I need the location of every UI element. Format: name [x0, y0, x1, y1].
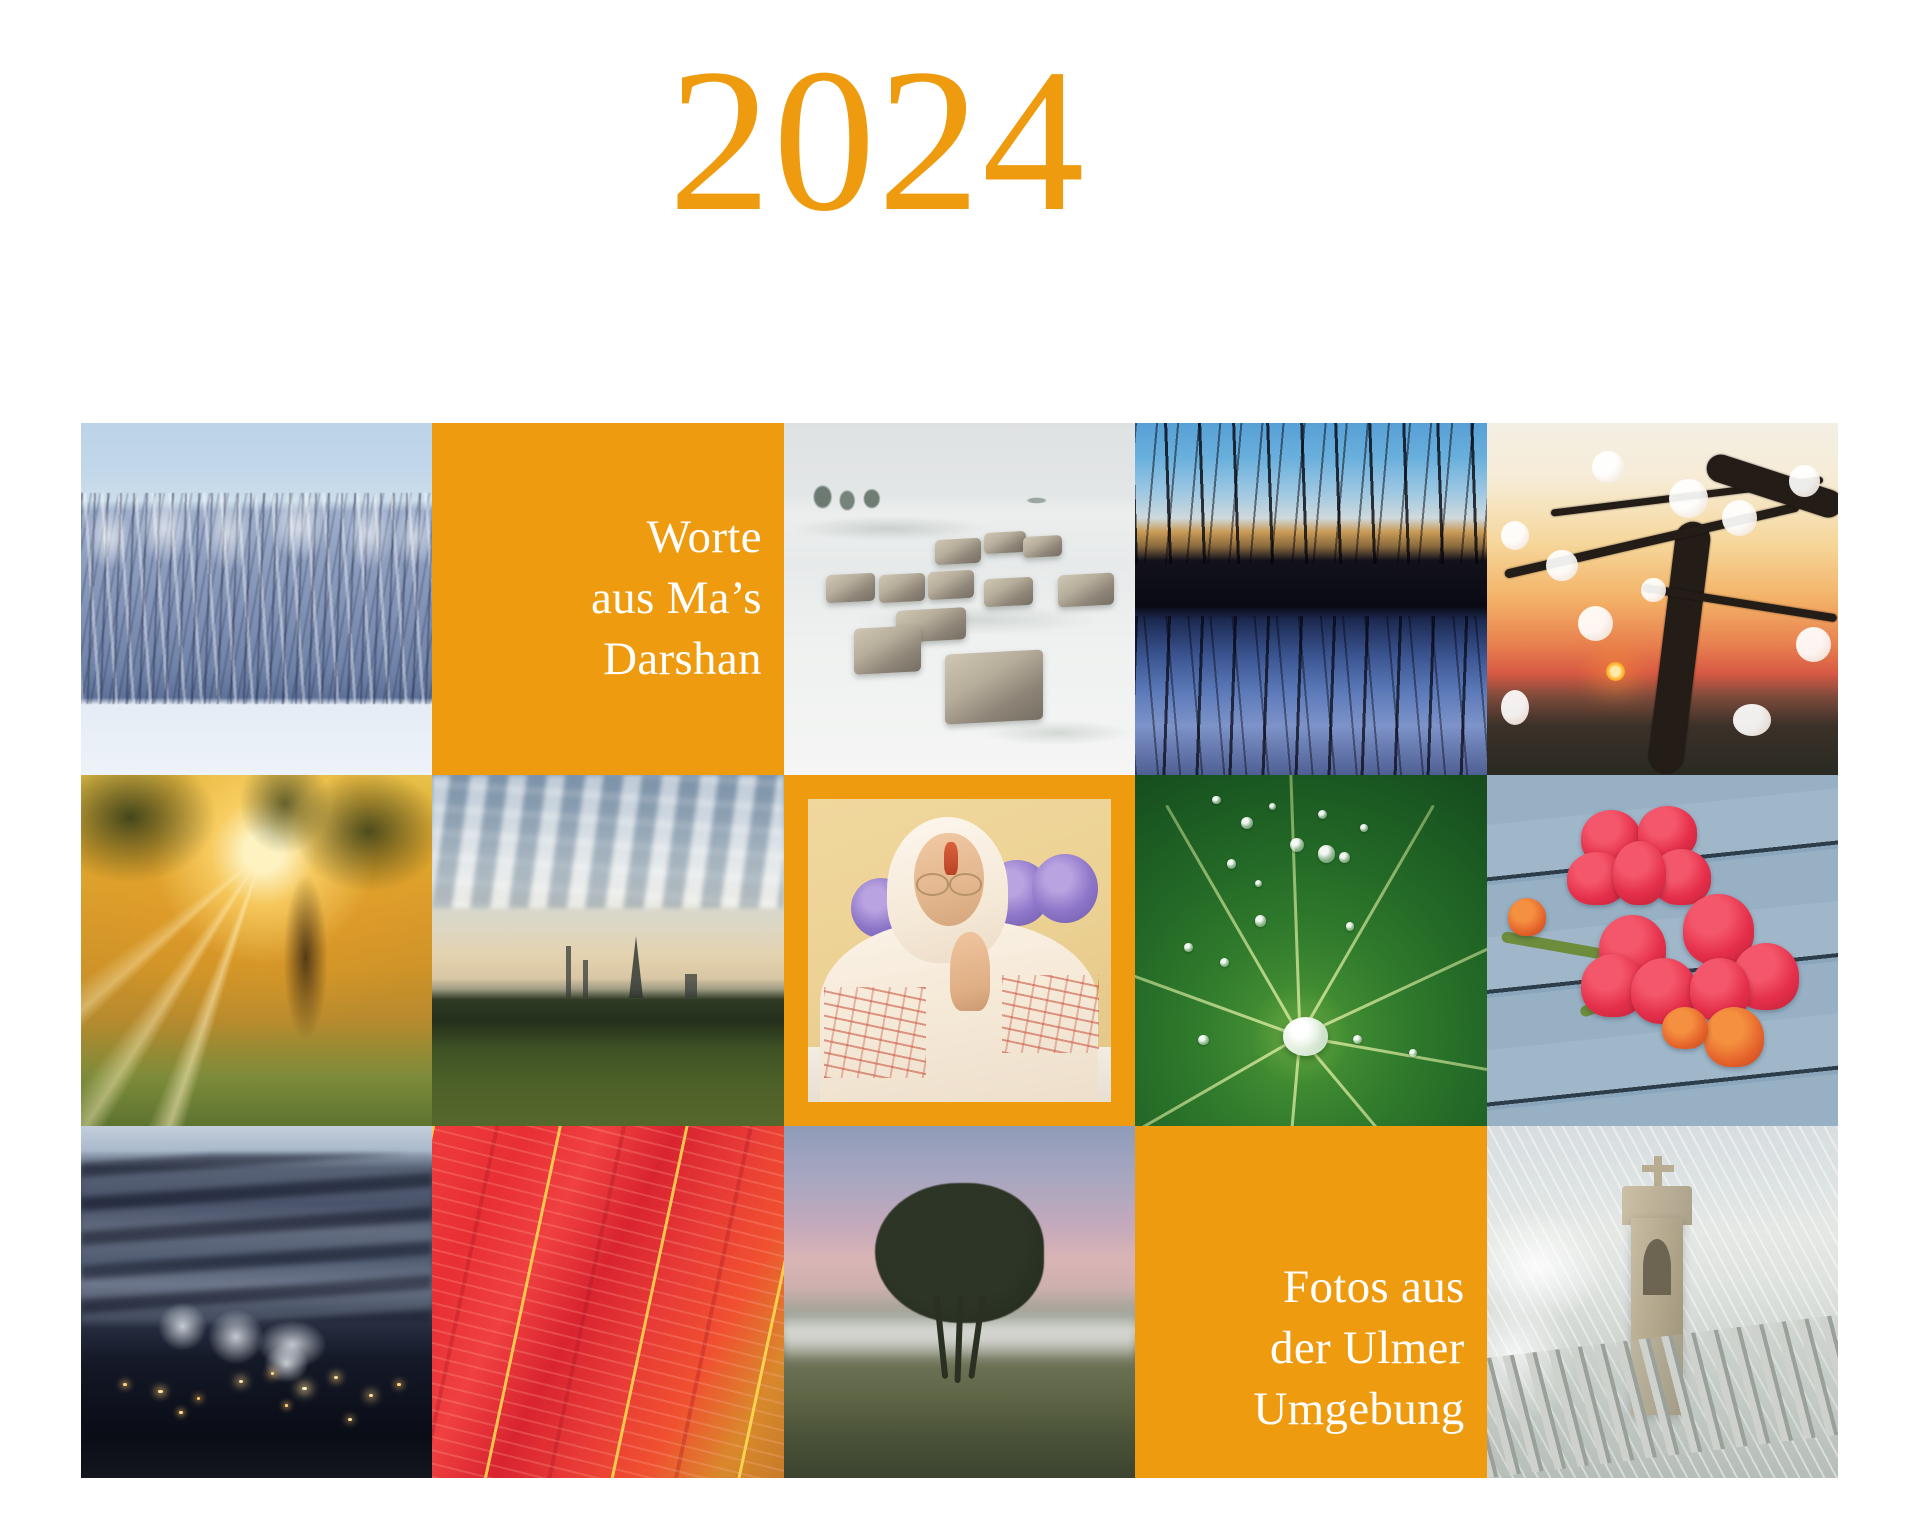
collage-cell-winter-forest [81, 423, 432, 775]
collage-cell-ulm-skyline-panorama [432, 775, 783, 1127]
caption-text-left: Worte aus Ma’s Darshan [591, 507, 762, 690]
stone-shape [984, 531, 1026, 554]
folded-hands-shape [950, 932, 989, 1011]
glasses-icon [914, 873, 984, 891]
city-light [179, 1411, 182, 1413]
city-light [369, 1394, 373, 1397]
stone-shape [945, 649, 1043, 724]
blossom-shape [1592, 451, 1624, 483]
leaf-vein [1300, 1035, 1487, 1084]
city-light [285, 1404, 288, 1406]
stone-shape [826, 573, 875, 604]
page-title: 2024 [669, 38, 1087, 243]
shrine-niche-shape [1643, 1239, 1671, 1295]
water-drop [1241, 817, 1253, 829]
water-drop [1255, 880, 1262, 887]
collage-cell-dewy-leaf-macro [1135, 775, 1486, 1127]
water-drop [1353, 1035, 1362, 1044]
flower-petal [1613, 841, 1666, 904]
stem-shape [1501, 931, 1607, 960]
flower-bud [1508, 898, 1547, 937]
blossom-shape [1669, 479, 1708, 518]
blossom-shape [1501, 690, 1529, 725]
water-drop [1318, 810, 1327, 819]
caption-text-right: Fotos aus der Ulmer Umgebung [1253, 1257, 1464, 1440]
stone-shape [1023, 535, 1062, 558]
minster-spire-shape [629, 936, 643, 998]
flower-petal [1704, 1007, 1764, 1067]
blossom-shape [1641, 578, 1666, 603]
collage-cell-red-sumac-leaves [432, 1126, 783, 1478]
stone-shape [984, 576, 1033, 607]
water-drop [1360, 824, 1368, 832]
water-drop [1198, 1035, 1209, 1046]
blossom-shape [1501, 521, 1529, 549]
collage-cell-misty-tree-dawn [784, 1126, 1135, 1478]
city-light [302, 1387, 307, 1391]
chimney-shape [566, 946, 571, 998]
stone-shape [935, 538, 981, 565]
building-shape [685, 974, 697, 998]
collage-cell-blossom-tree-sunset [1487, 423, 1838, 775]
blossom-shape [1722, 500, 1757, 535]
water-drop [1290, 838, 1304, 852]
collage-cell-frosted-wayside-shrine [1487, 1126, 1838, 1478]
caption-block-fotos-aus-der-ulmer-umgebung: Fotos aus der Ulmer Umgebung [1135, 1126, 1486, 1478]
stone-shape [1058, 573, 1114, 608]
collage-cell-twilight-pond-reflection [1135, 423, 1486, 775]
water-drop [1212, 796, 1220, 804]
city-light [334, 1376, 338, 1379]
main-water-drop [1283, 1017, 1329, 1056]
tilak-mark [944, 842, 958, 875]
blossom-shape [1546, 550, 1578, 582]
stone-shape [854, 625, 921, 674]
collage-cell-night-industrial-city [81, 1126, 432, 1478]
chimney-shape [583, 960, 588, 998]
blossom-shape [1796, 627, 1831, 662]
steam-plume [158, 1302, 207, 1351]
caption-block-worte-aus-mas-darshan: Worte aus Ma’s Darshan [432, 423, 783, 775]
flower-petal [1662, 1007, 1708, 1049]
leaf-vein [1290, 775, 1302, 1037]
collage-cell-snow-field-stones [784, 423, 1135, 775]
steam-plume [264, 1344, 310, 1383]
collage-cell-sunbeams-through-tree [81, 775, 432, 1127]
leaf-vein [1135, 1035, 1301, 1126]
collage-cell-red-trumpet-flowers [1487, 775, 1838, 1127]
water-drop [1227, 859, 1237, 869]
branch-shape [1647, 520, 1713, 774]
water-drop [1346, 922, 1354, 930]
stone-shape [879, 573, 925, 604]
city-light [123, 1383, 127, 1386]
robe-pattern [1002, 975, 1099, 1054]
city-light [397, 1383, 401, 1386]
water-drop [1318, 845, 1336, 863]
blossom-shape [1733, 704, 1772, 736]
city-light [239, 1380, 243, 1383]
water-drop [1184, 943, 1192, 951]
steam-plume [208, 1309, 264, 1365]
leaf-vein [1166, 804, 1302, 1037]
water-drop [1255, 915, 1266, 926]
wooden-fence-shape [1487, 1315, 1838, 1478]
leaf-vein [1300, 922, 1487, 1038]
blossom-shape [1789, 465, 1821, 497]
leaf-vein [1299, 1035, 1473, 1126]
stone-shape [928, 569, 974, 600]
water-drop [1339, 852, 1350, 863]
city-light [197, 1397, 201, 1400]
ma-portrait-photo [808, 799, 1110, 1101]
photo-collage-grid: Worte aus Ma’s Darshan [81, 423, 1838, 1478]
blossom-shape [1578, 606, 1613, 641]
city-light [158, 1390, 162, 1393]
city-light [348, 1418, 352, 1421]
sun-icon [1606, 662, 1625, 681]
title-area: 2024 [0, 38, 1920, 243]
robe-pattern [824, 987, 927, 1078]
water-drop [1220, 958, 1230, 968]
leaf-vein [1135, 944, 1301, 1038]
collage-cell-ma-portrait-frame [784, 775, 1135, 1127]
water-drop [1269, 803, 1276, 810]
water-drop [1409, 1049, 1417, 1057]
